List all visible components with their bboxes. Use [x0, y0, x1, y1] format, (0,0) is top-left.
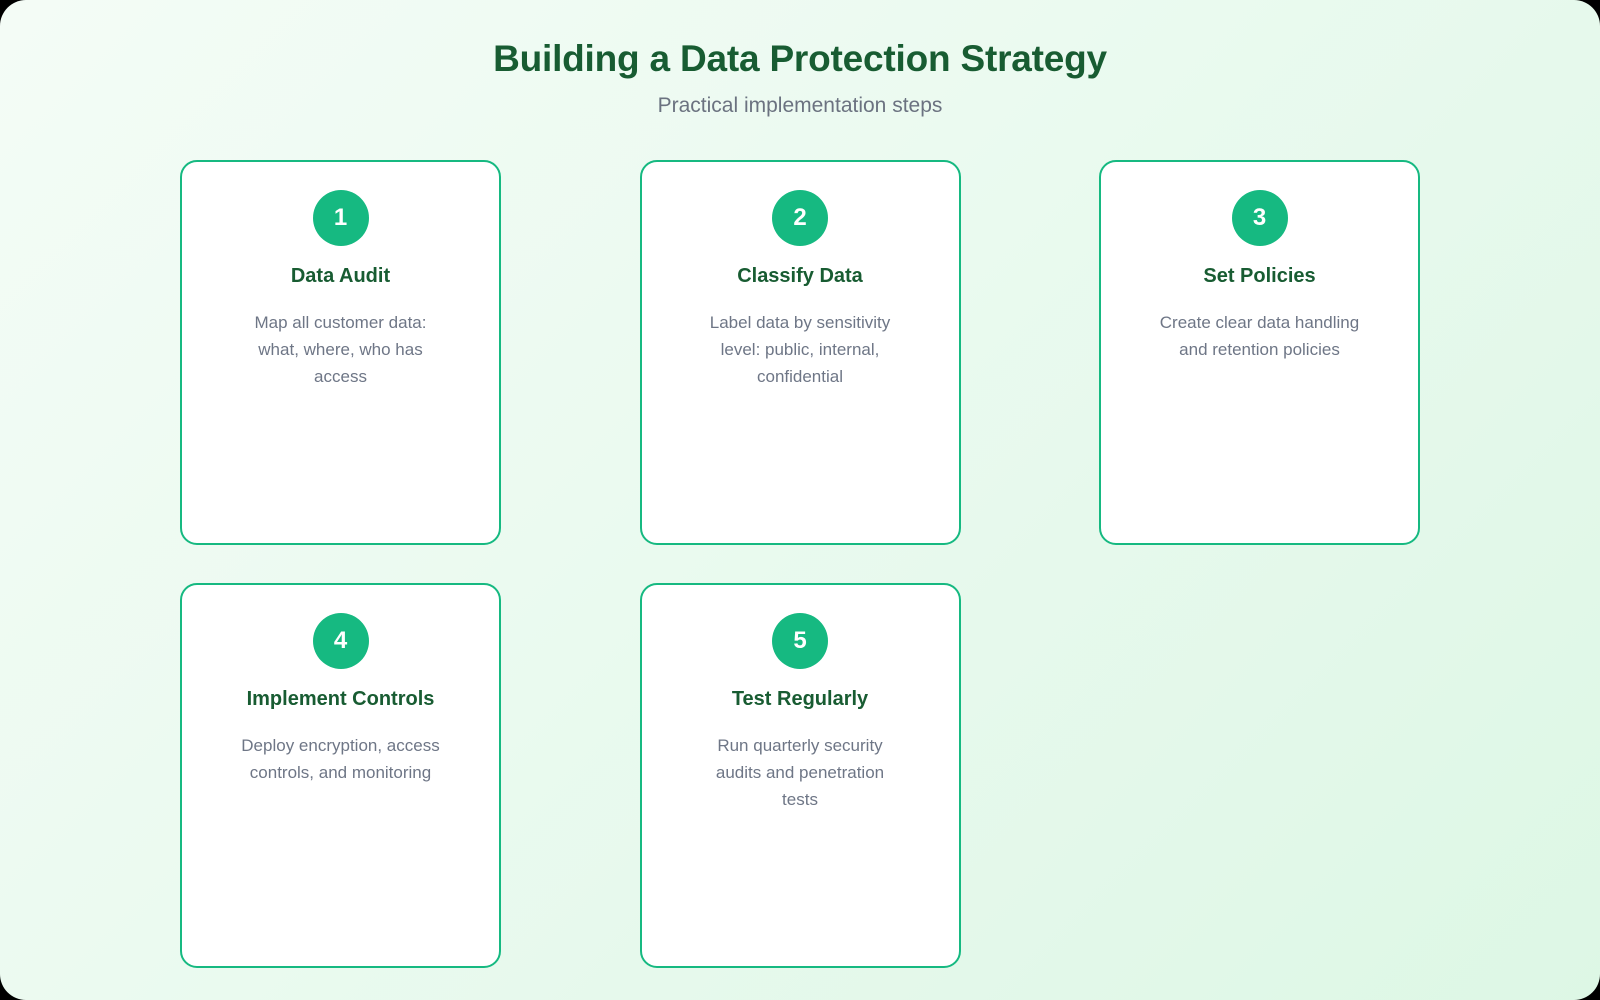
step-card-4[interactable]: 4 Implement Controls Deploy encryption, … [180, 583, 501, 968]
step-title-5: Test Regularly [732, 686, 868, 712]
infographic-root: Building a Data Protection Strategy Prac… [0, 0, 1600, 1000]
step-description-4: Deploy encryption, access controls, and … [241, 732, 441, 786]
step-card-5[interactable]: 5 Test Regularly Run quarterly security … [640, 583, 961, 968]
step-number-badge-1: 1 [313, 190, 369, 246]
step-description-2: Label data by sensitivity level: public,… [700, 309, 900, 390]
step-title-1: Data Audit [291, 263, 390, 289]
steps-grid: 1 Data Audit Map all customer data: what… [180, 160, 1420, 968]
step-card-3[interactable]: 3 Set Policies Create clear data handlin… [1099, 160, 1420, 545]
step-title-4: Implement Controls [247, 686, 435, 712]
step-card-2[interactable]: 2 Classify Data Label data by sensitivit… [640, 160, 961, 545]
step-description-1: Map all customer data: what, where, who … [241, 309, 441, 390]
page-title: Building a Data Protection Strategy [0, 36, 1600, 82]
step-title-2: Classify Data [737, 263, 863, 289]
step-description-3: Create clear data handling and retention… [1160, 309, 1360, 363]
step-number-badge-5: 5 [772, 613, 828, 669]
header: Building a Data Protection Strategy Prac… [0, 0, 1600, 120]
step-number-badge-3: 3 [1232, 190, 1288, 246]
step-number-badge-2: 2 [772, 190, 828, 246]
step-card-1[interactable]: 1 Data Audit Map all customer data: what… [180, 160, 501, 545]
step-number-badge-4: 4 [313, 613, 369, 669]
page-subtitle: Practical implementation steps [0, 92, 1600, 119]
step-title-3: Set Policies [1203, 263, 1315, 289]
step-description-5: Run quarterly security audits and penetr… [700, 732, 900, 813]
